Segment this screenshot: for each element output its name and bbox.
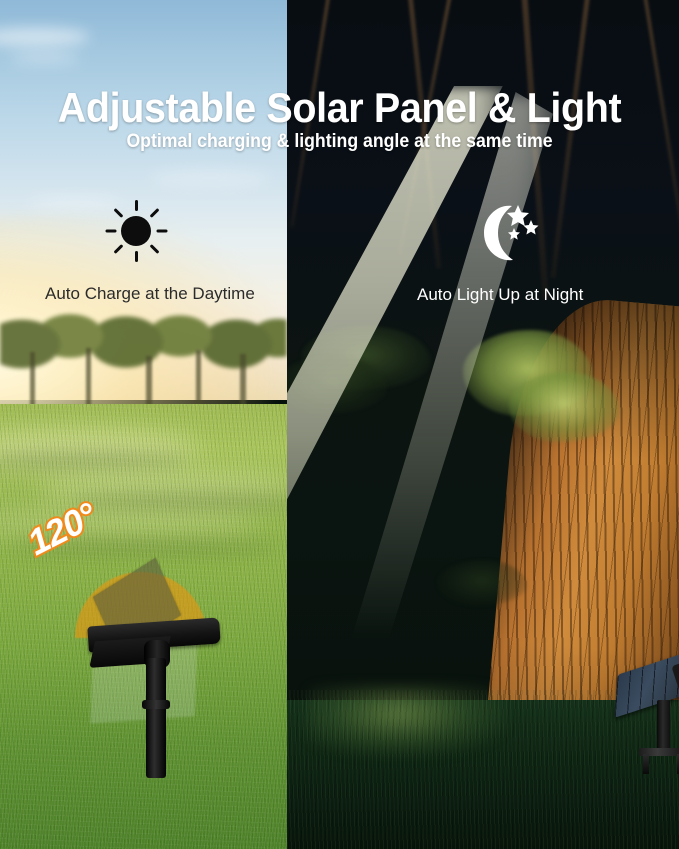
dark-foliage-cluster: [437, 560, 527, 606]
moon-stars-icon: [468, 200, 542, 266]
sun-ray: [135, 200, 138, 211]
tree-trunk: [86, 348, 91, 408]
sun-ray: [105, 230, 116, 233]
sun-ray: [156, 230, 167, 233]
cloud-wisp: [150, 170, 270, 186]
tree-trunk: [146, 356, 152, 408]
ground-spike: [643, 754, 649, 774]
tree-trunk: [196, 350, 201, 408]
product-feature-banner: 120°: [0, 0, 679, 849]
mounting-post-night: [657, 700, 670, 752]
sun-ray: [149, 208, 159, 218]
nighttime-caption: Auto Light Up at Night: [417, 285, 583, 305]
star-medium-icon: [524, 220, 539, 235]
lit-foliage-cluster: [509, 372, 619, 442]
sun-icon: [105, 200, 167, 262]
star-large-icon: [507, 205, 529, 226]
page-subtitle: Optimal charging & lighting angle at the…: [24, 131, 655, 153]
sun-ray: [113, 244, 123, 254]
sun-core: [121, 216, 151, 246]
cloud-wisp: [10, 52, 80, 64]
tree-trunk: [240, 354, 246, 408]
daytime-caption: Auto Charge at the Daytime: [45, 284, 255, 304]
post-collar-day: [142, 700, 170, 709]
star-small-icon: [508, 228, 520, 240]
page-title: Adjustable Solar Panel & Light: [20, 84, 658, 132]
sun-ray: [135, 251, 138, 262]
sun-ray: [149, 244, 159, 254]
mounting-post-day: [146, 658, 166, 778]
tree-trunk: [30, 352, 35, 408]
sun-ray: [113, 208, 123, 218]
